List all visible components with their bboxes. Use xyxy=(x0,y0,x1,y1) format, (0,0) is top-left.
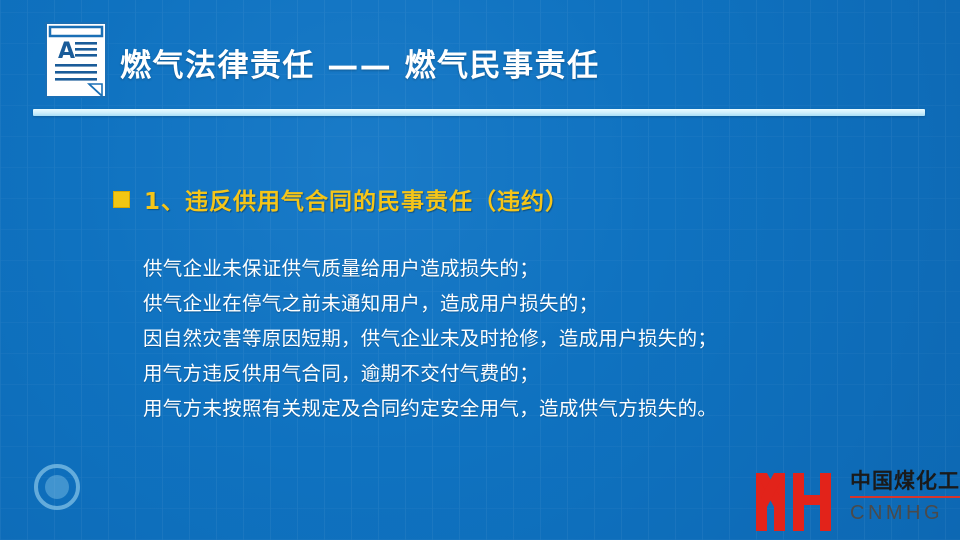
section-heading-label: 1、违反供用气合同的民事责任（违约） xyxy=(144,182,569,216)
body-line: 供气企业在停气之前未通知用户，造成用户损失的； xyxy=(143,286,843,321)
slide-header: A 燃气法律责任 —— 燃气民事责任 xyxy=(0,0,960,122)
logo-wordmark: 中国煤化工 CNMHG xyxy=(850,468,960,525)
body-line: 用气方违反供用气合同，逾期不交付气费的； xyxy=(143,356,843,391)
header-divider xyxy=(33,109,925,116)
mh-monogram-icon xyxy=(754,469,844,533)
logo-divider xyxy=(850,496,960,498)
body-line: 供气企业未保证供气质量给用户造成损失的； xyxy=(143,251,843,286)
corner-circle-decoration xyxy=(34,464,80,510)
slide-canvas: A 燃气法律责任 —— 燃气民事责任 1、违反供用气合同的民事责任（违约） 供气… xyxy=(0,0,960,540)
logo-name-cn: 中国煤化工 xyxy=(850,468,960,494)
body-line: 用气方未按照有关规定及合同约定安全用气，造成供气方损失的。 xyxy=(143,391,843,426)
svg-text:A: A xyxy=(58,39,75,64)
section-heading: 1、违反供用气合同的民事责任（违约） xyxy=(113,182,569,216)
body-line: 因自然灾害等原因短期，供气企业未及时抢修，造成用户损失的； xyxy=(143,321,843,356)
body-text-block: 供气企业未保证供气质量给用户造成损失的； 供气企业在停气之前未通知用户，造成用户… xyxy=(143,251,843,426)
square-bullet-icon xyxy=(113,191,130,208)
page-title: 燃气法律责任 —— 燃气民事责任 xyxy=(120,40,600,85)
logo-name-en: CNMHG xyxy=(850,501,960,525)
document-icon: A xyxy=(45,22,107,98)
company-logo: 中国煤化工 CNMHG xyxy=(746,460,960,540)
